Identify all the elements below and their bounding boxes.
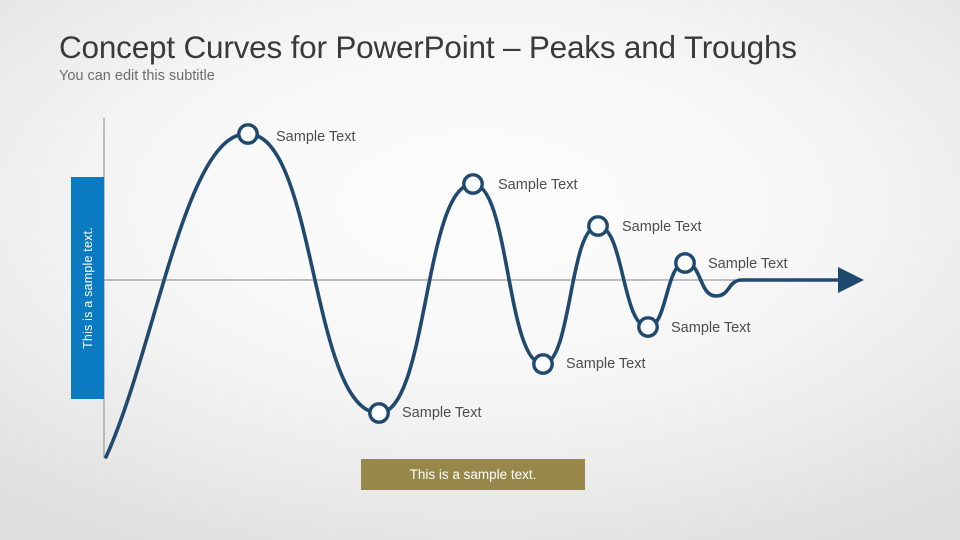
curve-marker-1[interactable]	[239, 125, 257, 143]
caption-box[interactable]: This is a sample text.	[361, 459, 585, 490]
caption-box-label: This is a sample text.	[410, 467, 537, 482]
point-label-7[interactable]: Sample Text	[708, 256, 788, 272]
chart-axes	[104, 118, 864, 458]
curve-marker-2[interactable]	[370, 404, 388, 422]
curve-marker-group	[239, 125, 694, 422]
point-label-1[interactable]: Sample Text	[276, 129, 356, 145]
point-label-5[interactable]: Sample Text	[622, 219, 702, 235]
point-label-3[interactable]: Sample Text	[498, 177, 578, 193]
point-label-2[interactable]: Sample Text	[402, 405, 482, 421]
curve-marker-4[interactable]	[534, 355, 552, 373]
curve-marker-7[interactable]	[676, 254, 694, 272]
point-label-4[interactable]: Sample Text	[566, 356, 646, 372]
curve-marker-3[interactable]	[464, 175, 482, 193]
curve-marker-5[interactable]	[589, 217, 607, 235]
slide-canvas: Concept Curves for PowerPoint – Peaks an…	[0, 0, 960, 540]
vertical-accent-bar[interactable]: This is a sample text.	[71, 177, 104, 399]
point-label-6[interactable]: Sample Text	[671, 320, 751, 336]
curve-marker-6[interactable]	[639, 318, 657, 336]
vertical-accent-bar-label: This is a sample text.	[81, 227, 95, 349]
